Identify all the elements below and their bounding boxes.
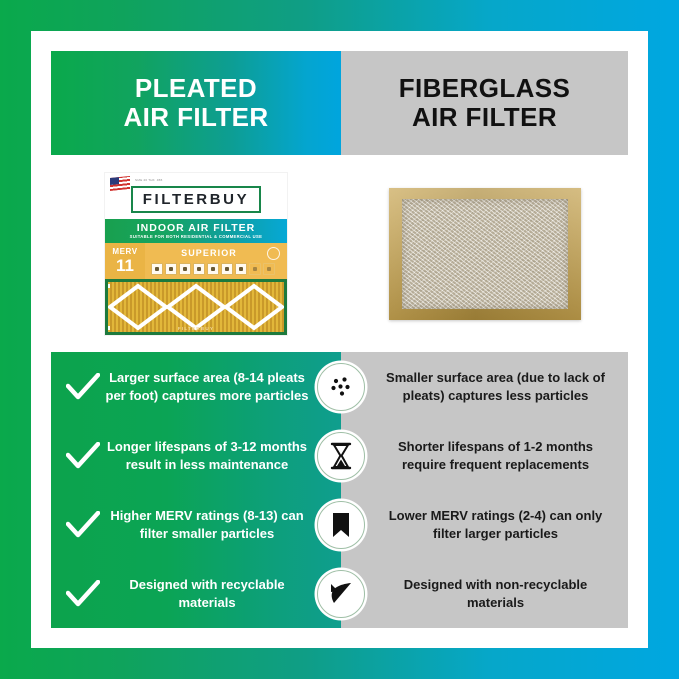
merv-label: MERV <box>112 248 137 256</box>
pleated-filter-illustration: SIZE 20 THK .965 FILTERBUY INDOOR AIR FI… <box>105 173 287 335</box>
comparison-row: Longer lifespans of 3-12 months result i… <box>51 421 628 490</box>
certification-seal-icon <box>267 247 280 260</box>
pleated-product-cell: SIZE 20 THK .965 FILTERBUY INDOOR AIR FI… <box>51 159 341 349</box>
hourglass-icon <box>317 432 365 480</box>
comparison-card: PLEATED AIR FILTER FIBERGLASS AIR FILTER… <box>31 31 648 648</box>
feature-chip-icon <box>179 263 191 275</box>
feature-icon-row <box>151 263 287 275</box>
pleat-media-area: FILTERBUY <box>105 279 287 335</box>
check-icon <box>61 373 105 401</box>
comparison-rows: Larger surface area (8-14 pleats per foo… <box>51 352 628 628</box>
row-left-cell: Larger surface area (8-14 pleats per foo… <box>51 369 341 403</box>
row-left-cell: Longer lifespans of 3-12 months result i… <box>51 438 341 472</box>
row-right-text: Shorter lifespans of 1-2 months require … <box>375 438 616 472</box>
feature-chip-icon <box>193 263 205 275</box>
feature-chip-icon <box>249 263 261 275</box>
row-right-text: Lower MERV ratings (2-4) can only filter… <box>375 507 616 541</box>
diamond-lattice-icon <box>108 282 284 332</box>
header-row: PLEATED AIR FILTER FIBERGLASS AIR FILTER <box>51 51 628 155</box>
rows-grid: Larger surface area (8-14 pleats per foo… <box>51 352 628 628</box>
row-right-text: Designed with non-recyclable materials <box>375 576 616 610</box>
pleated-header-title: PLEATED AIR FILTER <box>123 74 268 132</box>
pleat-footer-brand: FILTERBUY <box>108 326 284 331</box>
fiberglass-header-title: FIBERGLASS AIR FILTER <box>399 74 571 132</box>
header-right-panel: FIBERGLASS AIR FILTER <box>341 51 628 155</box>
label-size-code: SIZE 20 THK .965 <box>135 178 163 183</box>
row-right-cell: Designed with non-recyclable materials <box>341 576 628 610</box>
feature-chip-icon <box>263 263 275 275</box>
merv-badge: MERV 11 <box>105 243 145 279</box>
row-left-cell: Designed with recyclable materials <box>51 576 341 610</box>
grade-row: SUPERIOR <box>151 247 287 260</box>
fiberglass-filter-illustration <box>389 188 581 320</box>
row-right-text: Smaller surface area (due to lack of ple… <box>375 369 616 403</box>
indoor-air-filter-band: INDOOR AIR FILTER SUITABLE FOR BOTH RESI… <box>105 219 287 243</box>
feature-chip-icon <box>165 263 177 275</box>
header-left-panel: PLEATED AIR FILTER <box>51 51 341 155</box>
row-left-cell: Higher MERV ratings (8-13) can filter sm… <box>51 507 341 541</box>
row-left-text: Larger surface area (8-14 pleats per foo… <box>105 369 341 403</box>
feature-chip-icon <box>235 263 247 275</box>
check-icon <box>61 442 105 470</box>
comparison-row: Higher MERV ratings (8-13) can filter sm… <box>51 490 628 559</box>
row-left-text: Designed with recyclable materials <box>105 576 341 610</box>
band-subtitle: SUITABLE FOR BOTH RESIDENTIAL & COMMERCI… <box>130 235 263 239</box>
us-flag-icon <box>110 176 130 191</box>
band-title: INDOOR AIR FILTER <box>137 223 256 234</box>
row-left-text: Higher MERV ratings (8-13) can filter sm… <box>105 507 341 541</box>
merv-band: MERV 11 SUPERIOR <box>105 243 287 279</box>
fiberglass-product-cell <box>341 159 628 349</box>
feature-chip-icon <box>207 263 219 275</box>
pleat-field: FILTERBUY <box>108 282 284 332</box>
check-icon <box>61 580 105 608</box>
feature-chip-icon <box>151 263 163 275</box>
row-left-text: Longer lifespans of 3-12 months result i… <box>105 438 341 472</box>
merv-value: 11 <box>116 257 134 274</box>
merv-details: SUPERIOR <box>145 243 287 279</box>
row-right-cell: Shorter lifespans of 1-2 months require … <box>341 438 628 472</box>
leaf-icon <box>317 570 365 618</box>
fiberglass-mesh <box>402 199 568 309</box>
brand-name: FILTERBUY <box>143 192 249 207</box>
feature-chip-icon <box>221 263 233 275</box>
pleated-label-top: SIZE 20 THK .965 FILTERBUY <box>105 173 287 219</box>
comparison-row: Larger surface area (8-14 pleats per foo… <box>51 352 628 421</box>
row-right-cell: Lower MERV ratings (2-4) can only filter… <box>341 507 628 541</box>
particles-icon <box>317 363 365 411</box>
check-icon <box>61 511 105 539</box>
product-images-row: SIZE 20 THK .965 FILTERBUY INDOOR AIR FI… <box>51 159 628 349</box>
bookmark-icon <box>317 501 365 549</box>
brand-box: FILTERBUY <box>131 186 261 213</box>
grade-label: SUPERIOR <box>151 249 267 258</box>
infographic-page: PLEATED AIR FILTER FIBERGLASS AIR FILTER… <box>0 0 679 679</box>
row-right-cell: Smaller surface area (due to lack of ple… <box>341 369 628 403</box>
comparison-row: Designed with recyclable materials Desig… <box>51 559 628 628</box>
